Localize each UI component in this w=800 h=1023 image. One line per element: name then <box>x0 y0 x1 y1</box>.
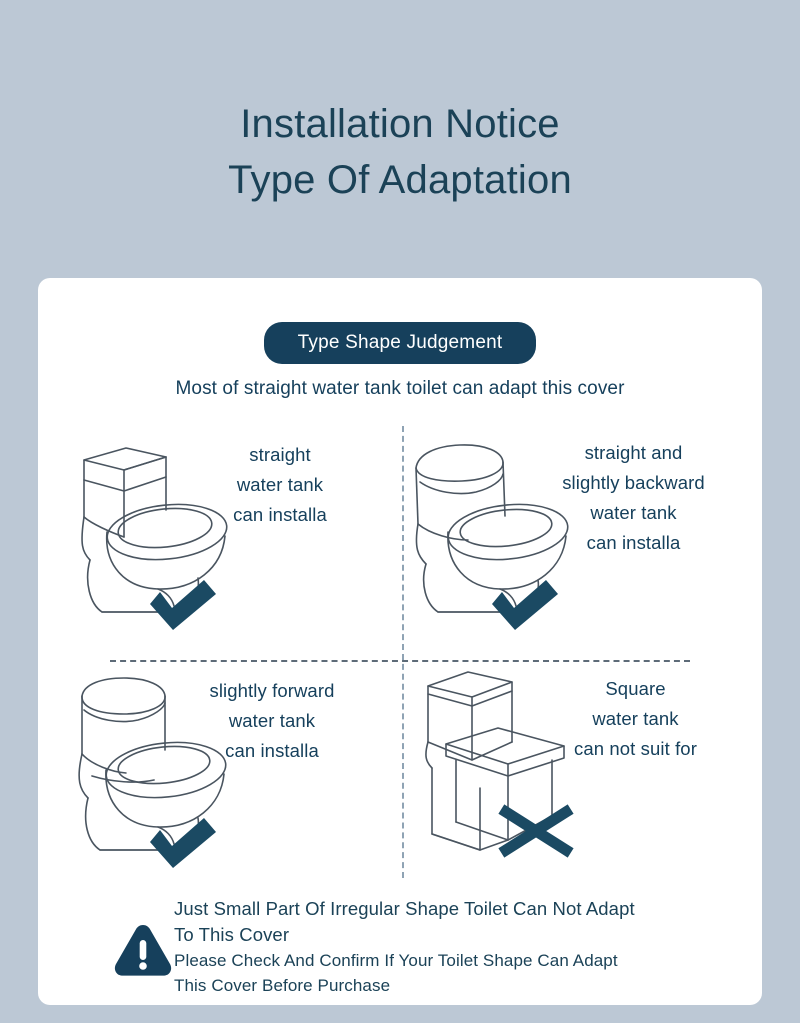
caption-line: water tank <box>190 470 370 500</box>
caption-line: can installa <box>531 528 736 558</box>
quadrant-grid: straight water tank can installa <box>60 426 740 878</box>
judgement-card: Type Shape Judgement Most of straight wa… <box>38 278 762 1005</box>
caption-line: straight <box>190 440 370 470</box>
caption-line: Square <box>533 674 738 704</box>
caption-line: can not suit for <box>533 734 738 764</box>
cross-mark-icon <box>506 812 566 850</box>
badge-container: Type Shape Judgement <box>38 322 762 364</box>
check-mark-icon <box>150 818 216 868</box>
caption-line: slightly forward <box>172 676 372 706</box>
caption-line: water tank <box>172 706 372 736</box>
caption-line: slightly backward <box>531 468 736 498</box>
quadrant-caption: straight and slightly backward water tan… <box>531 438 736 558</box>
installation-notice-page: Installation Notice Type Of Adaptation T… <box>0 0 800 1023</box>
warning-note-line-3: Please Check And Confirm If Your Toilet … <box>174 948 734 973</box>
caption-line: can installa <box>190 500 370 530</box>
page-title: Installation Notice Type Of Adaptation <box>0 96 800 208</box>
quadrant-caption: Square water tank can not suit for <box>533 674 738 764</box>
warning-note-line-4: This Cover Before Purchase <box>174 973 734 998</box>
quadrant-slightly-forward-tank: slightly forward water tank can installa <box>60 664 400 890</box>
page-title-line-1: Installation Notice <box>0 96 800 152</box>
quadrant-square-tank: Square water tank can not suit for <box>404 664 744 890</box>
quadrant-caption: slightly forward water tank can installa <box>172 676 372 766</box>
check-mark-icon <box>492 580 558 630</box>
quadrant-straight-tank: straight water tank can installa <box>60 426 400 652</box>
caption-line: can installa <box>172 736 372 766</box>
warning-note-line-2: To This Cover <box>174 922 734 948</box>
caption-line: straight and <box>531 438 736 468</box>
warning-note-text: Just Small Part Of Irregular Shape Toile… <box>174 896 734 998</box>
type-shape-judgement-badge: Type Shape Judgement <box>264 322 537 364</box>
page-title-line-2: Type Of Adaptation <box>0 152 800 208</box>
caption-line: water tank <box>533 704 738 734</box>
warning-note: Just Small Part Of Irregular Shape Toile… <box>74 886 754 996</box>
card-subtitle: Most of straight water tank toilet can a… <box>38 378 762 400</box>
caption-line: water tank <box>531 498 736 528</box>
quadrant-caption: straight water tank can installa <box>190 440 370 530</box>
check-mark-icon <box>150 580 216 630</box>
quadrant-slightly-backward-tank: straight and slightly backward water tan… <box>404 426 744 652</box>
warning-note-line-1: Just Small Part Of Irregular Shape Toile… <box>174 896 734 922</box>
warning-triangle-icon <box>112 922 174 978</box>
horizontal-divider <box>110 660 690 662</box>
